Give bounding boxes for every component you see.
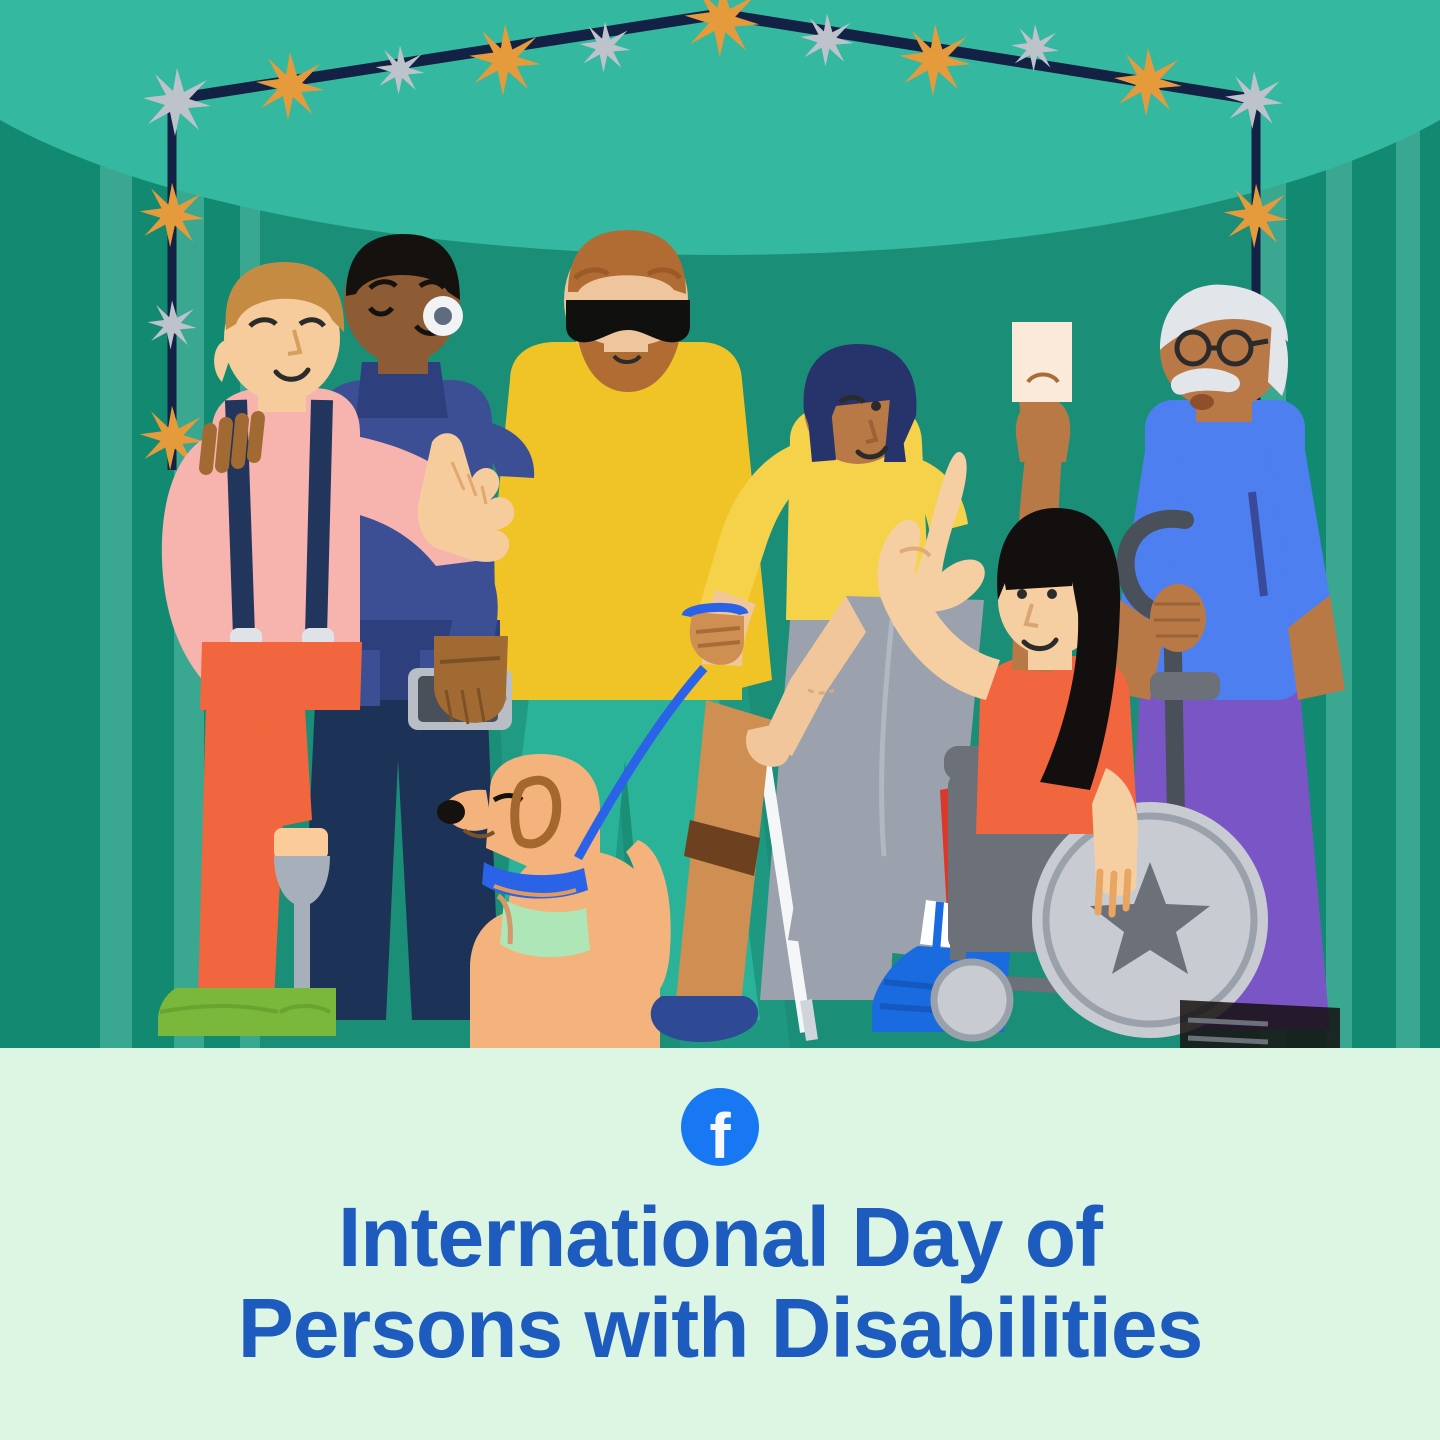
poster-root: f International Day of Persons with Disa… — [0, 0, 1440, 1440]
prosthetic-pylon — [294, 898, 310, 998]
title-line-2: Persons with Disabilities — [80, 1283, 1360, 1374]
scene-svg — [0, 0, 1440, 1048]
shoe-left — [158, 988, 278, 1036]
title-line-1: International Day of — [338, 1190, 1102, 1284]
illustration-scene — [0, 0, 1440, 1048]
floor-shadows — [1180, 1000, 1340, 1048]
facebook-icon[interactable]: f — [681, 1088, 759, 1166]
dog-nose — [437, 800, 465, 824]
ticket-icon — [1012, 322, 1072, 402]
facebook-letter: f — [681, 1088, 759, 1166]
title-banner: f International Day of Persons with Disa… — [0, 1048, 1440, 1440]
prosthetic-socket — [274, 828, 328, 860]
wheelchair-caster — [934, 962, 1010, 1038]
suspender-right — [316, 400, 322, 636]
page-title: International Day of Persons with Disabi… — [80, 1192, 1360, 1373]
